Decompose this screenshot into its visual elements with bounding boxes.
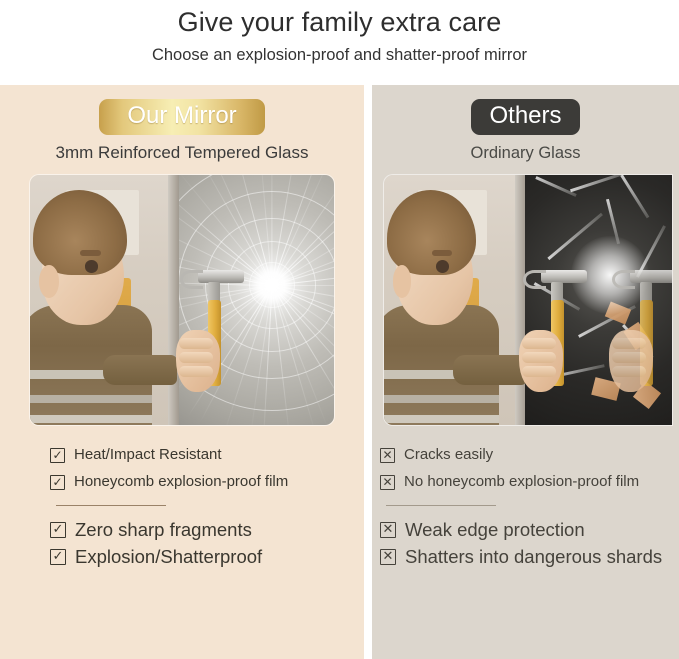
feature-item: ✕ Weak edge protection (380, 520, 679, 540)
others-badge: Others (471, 99, 579, 135)
feature-group-divider (386, 505, 496, 506)
boy-eyebrow (432, 250, 452, 256)
feature-item: ✕ Cracks easily (380, 445, 679, 465)
feature-item: ✓ Explosion/Shatterproof (50, 547, 364, 567)
feature-label: Honeycomb explosion-proof film (74, 472, 288, 492)
finger (522, 366, 556, 377)
boy-ear (393, 265, 412, 298)
glass-shard (570, 175, 628, 192)
feature-item: ✕ Shatters into dangerous shards (380, 547, 679, 567)
feature-item: ✓ Honeycomb explosion-proof film (50, 472, 364, 492)
hammer-claw (612, 270, 635, 289)
hammer-claw (523, 270, 546, 289)
others-photo (384, 175, 672, 425)
feature-label: No honeycomb explosion-proof film (404, 472, 639, 492)
our-mirror-badge-row: Our Mirror (0, 85, 364, 135)
finger (179, 366, 213, 377)
header: Give your family extra care Choose an ex… (0, 0, 679, 66)
finger (179, 338, 213, 349)
ordinary-glass-scene (384, 175, 672, 425)
feature-group-divider (56, 505, 166, 506)
sweater-stripe (30, 395, 152, 403)
boy-ear (39, 265, 59, 298)
sweater-stripe (384, 415, 499, 422)
hammer-claw (180, 270, 203, 289)
others-badge-row: Others (372, 85, 679, 135)
finger (522, 352, 556, 363)
our-mirror-panel: Our Mirror 3mm Reinforced Tempered Glass (0, 85, 364, 659)
boy-eye (436, 260, 449, 273)
comparison-columns: Our Mirror 3mm Reinforced Tempered Glass (0, 85, 679, 659)
feature-item: ✓ Heat/Impact Resistant (50, 445, 364, 465)
sweater-stripe (30, 415, 152, 422)
comparison-infographic: Give your family extra care Choose an ex… (0, 0, 679, 659)
boy-forearm (103, 355, 177, 385)
hammer-head (630, 270, 672, 283)
cross-box-icon: ✕ (380, 522, 396, 538)
check-box-icon: ✓ (50, 522, 66, 538)
page-title: Give your family extra care (0, 2, 679, 39)
finger (612, 338, 646, 349)
panel-divider (364, 85, 372, 659)
sweater-stripe (384, 395, 499, 403)
boy-figure (384, 175, 528, 425)
others-feature-list: ✕ Cracks easily ✕ No honeycomb explosion… (372, 445, 679, 574)
feature-label: Weak edge protection (405, 520, 585, 540)
feature-label: Cracks easily (404, 445, 493, 465)
our-mirror-feature-list: ✓ Heat/Impact Resistant ✓ Honeycomb expl… (0, 445, 364, 574)
feature-item: ✕ No honeycomb explosion-proof film (380, 472, 679, 492)
feature-item: ✓ Zero sharp fragments (50, 520, 364, 540)
check-box-icon: ✓ (50, 475, 65, 490)
feature-label: Heat/Impact Resistant (74, 445, 222, 465)
check-box-icon: ✓ (50, 549, 66, 565)
our-mirror-badge: Our Mirror (99, 99, 264, 135)
tempered-glass-scene (30, 175, 334, 425)
cross-box-icon: ✕ (380, 549, 396, 565)
page-subtitle: Choose an explosion-proof and shatter-pr… (0, 39, 679, 66)
finger (179, 352, 213, 363)
cross-box-icon: ✕ (380, 448, 395, 463)
glass-shard (621, 175, 650, 218)
finger (522, 338, 556, 349)
finger (612, 366, 646, 377)
our-mirror-photo (30, 175, 334, 425)
finger (612, 352, 646, 363)
others-subtitle: Ordinary Glass (372, 135, 679, 164)
hammer-head (198, 270, 244, 283)
feature-label: Zero sharp fragments (75, 520, 252, 540)
hammer-head (541, 270, 587, 283)
feature-label: Shatters into dangerous shards (405, 547, 662, 567)
our-mirror-subtitle: 3mm Reinforced Tempered Glass (0, 135, 364, 164)
boy-hand (176, 330, 220, 392)
boy-hair (33, 190, 127, 275)
boy-eye (85, 260, 99, 273)
boy-figure (30, 175, 182, 425)
others-panel: Others Ordinary Glass (372, 85, 679, 659)
glass-shard (535, 176, 576, 197)
boy-hair (387, 190, 476, 275)
check-box-icon: ✓ (50, 448, 65, 463)
cross-box-icon: ✕ (380, 475, 395, 490)
impact-point (249, 262, 295, 308)
reflected-hand (609, 330, 653, 392)
boy-eyebrow (80, 250, 101, 256)
feature-label: Explosion/Shatterproof (75, 547, 262, 567)
boy-forearm (453, 355, 527, 385)
